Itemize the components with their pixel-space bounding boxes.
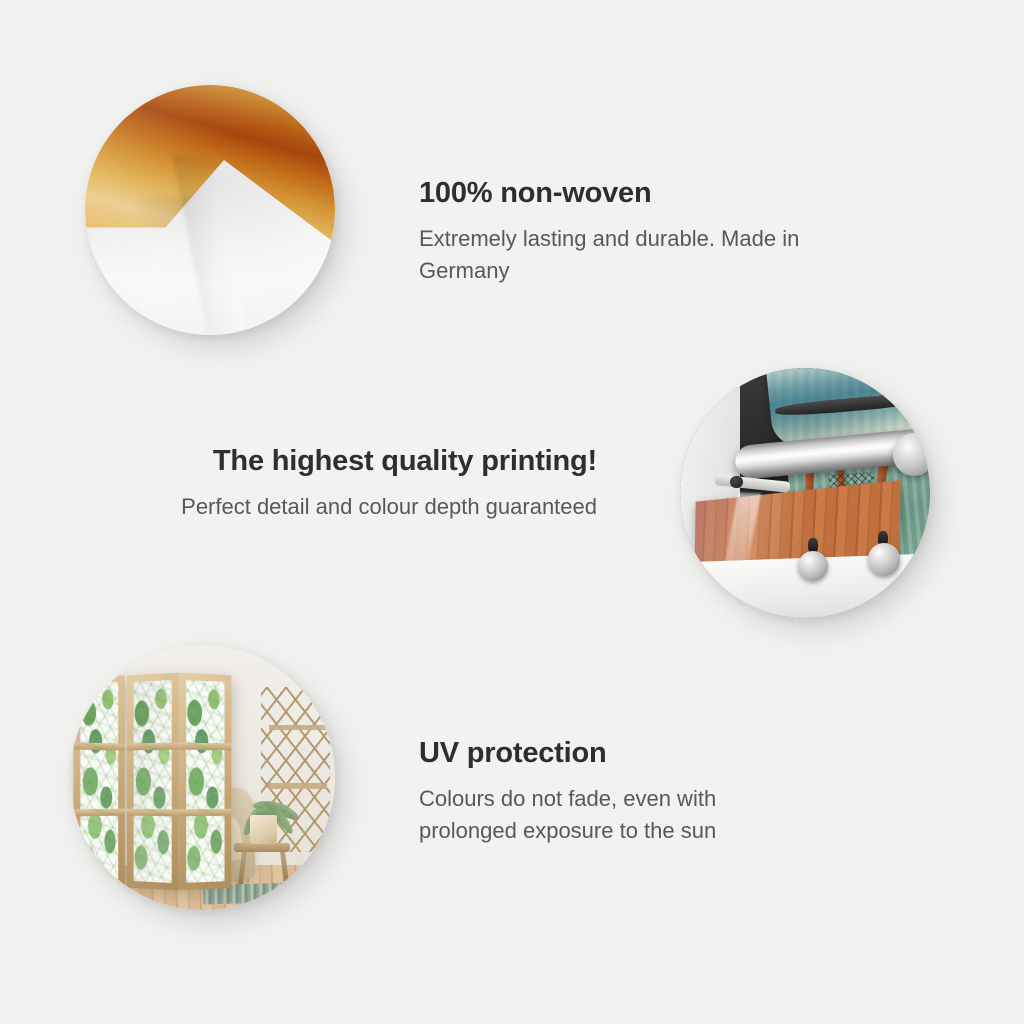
large-format-printing-press-photo xyxy=(680,368,930,618)
panel-crossbar xyxy=(179,809,231,817)
panel-crossbar xyxy=(73,743,124,751)
feature-image-uv-protection xyxy=(70,645,335,910)
feature-heading-uv-protection: UV protection xyxy=(419,735,799,771)
divider-panel-left xyxy=(73,672,124,890)
plant-pot xyxy=(250,815,277,844)
feature-heading-printing-quality: The highest quality printing! xyxy=(160,443,597,479)
feature-text-printing-quality: The highest quality printing! Perfect de… xyxy=(160,443,597,523)
lattice-shelf-board xyxy=(269,725,327,731)
tropical-room-divider-photo xyxy=(70,645,335,910)
feature-image-printing-quality xyxy=(680,368,930,618)
panel-crossbar xyxy=(127,809,179,817)
divider-panel-middle xyxy=(127,673,179,890)
feature-body-printing-quality: Perfect detail and colour depth guarante… xyxy=(160,491,597,523)
panel-crossbar xyxy=(179,743,231,751)
lattice-shelf-board xyxy=(269,783,327,789)
product-features-infographic: 100% non-woven Extremely lasting and dur… xyxy=(0,0,1024,1024)
panel-crossbar xyxy=(73,809,124,817)
roller-end-cap xyxy=(893,433,931,476)
feature-image-non-woven xyxy=(85,85,335,335)
side-table-top xyxy=(234,843,290,852)
press-arm-knob xyxy=(730,476,743,489)
feature-text-non-woven: 100% non-woven Extremely lasting and dur… xyxy=(419,175,859,287)
feature-heading-non-woven: 100% non-woven xyxy=(419,175,859,211)
divider-panel-right xyxy=(179,673,231,890)
feature-body-non-woven: Extremely lasting and durable. Made in G… xyxy=(419,223,859,287)
press-adjustment-knob xyxy=(868,543,901,576)
folding-room-divider xyxy=(73,674,232,889)
feature-text-uv-protection: UV protection Colours do not fade, even … xyxy=(419,735,799,847)
peeling-wallpaper-corner-photo xyxy=(85,85,335,335)
press-adjustment-knob xyxy=(798,551,828,581)
feature-body-uv-protection: Colours do not fade, even with prolonged… xyxy=(419,783,799,847)
panel-crossbar xyxy=(127,743,179,751)
